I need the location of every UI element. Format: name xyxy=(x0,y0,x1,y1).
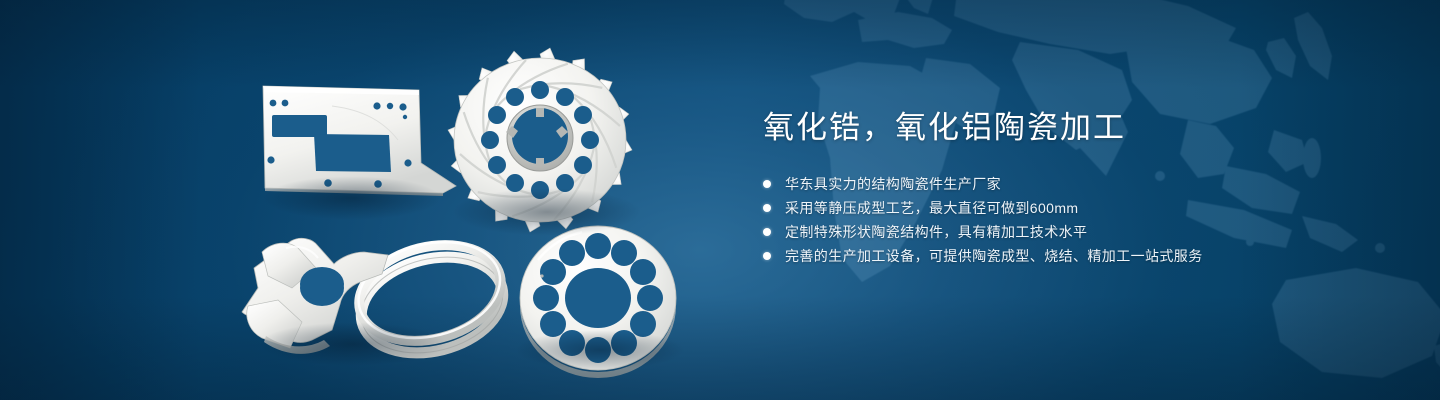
feature-list: 华东具实力的结构陶瓷件生产厂家 采用等静压成型工艺，最大直径可做到600mm 定… xyxy=(763,172,1383,268)
feature-text: 完善的生产加工设备，可提供陶瓷成型、烧结、精加工一站式服务 xyxy=(785,248,1203,264)
ceramic-processing-banner: 氧化锆，氧化铝陶瓷加工 华东具实力的结构陶瓷件生产厂家 采用等静压成型工艺，最大… xyxy=(0,0,1440,400)
ceramic-ring-stack xyxy=(348,228,513,367)
feature-text: 定制特殊形状陶瓷结构件，具有精加工技术水平 xyxy=(785,224,1087,240)
bullet-dot-icon xyxy=(763,228,771,236)
feature-text: 采用等静压成型工艺，最大直径可做到600mm xyxy=(785,200,1078,216)
list-item: 采用等静压成型工艺，最大直径可做到600mm xyxy=(763,196,1383,220)
list-item: 完善的生产加工设备，可提供陶瓷成型、烧结、精加工一站式服务 xyxy=(763,244,1383,268)
bullet-dot-icon xyxy=(763,204,771,212)
ceramic-products-photo xyxy=(0,0,740,400)
page-title: 氧化锆，氧化铝陶瓷加工 xyxy=(763,108,1383,148)
bullet-dot-icon xyxy=(763,180,771,188)
ceramic-impeller-disc xyxy=(444,44,637,237)
feature-text: 华东具实力的结构陶瓷件生产厂家 xyxy=(785,176,1001,192)
list-item: 华东具实力的结构陶瓷件生产厂家 xyxy=(763,172,1383,196)
list-item: 定制特殊形状陶瓷结构件，具有精加工技术水平 xyxy=(763,220,1383,244)
banner-text-column: 氧化锆，氧化铝陶瓷加工 华东具实力的结构陶瓷件生产厂家 采用等静压成型工艺，最大… xyxy=(763,108,1383,268)
ceramic-flat-plate xyxy=(263,86,456,196)
ceramic-perforated-ring xyxy=(520,226,676,378)
bullet-dot-icon xyxy=(763,252,771,260)
